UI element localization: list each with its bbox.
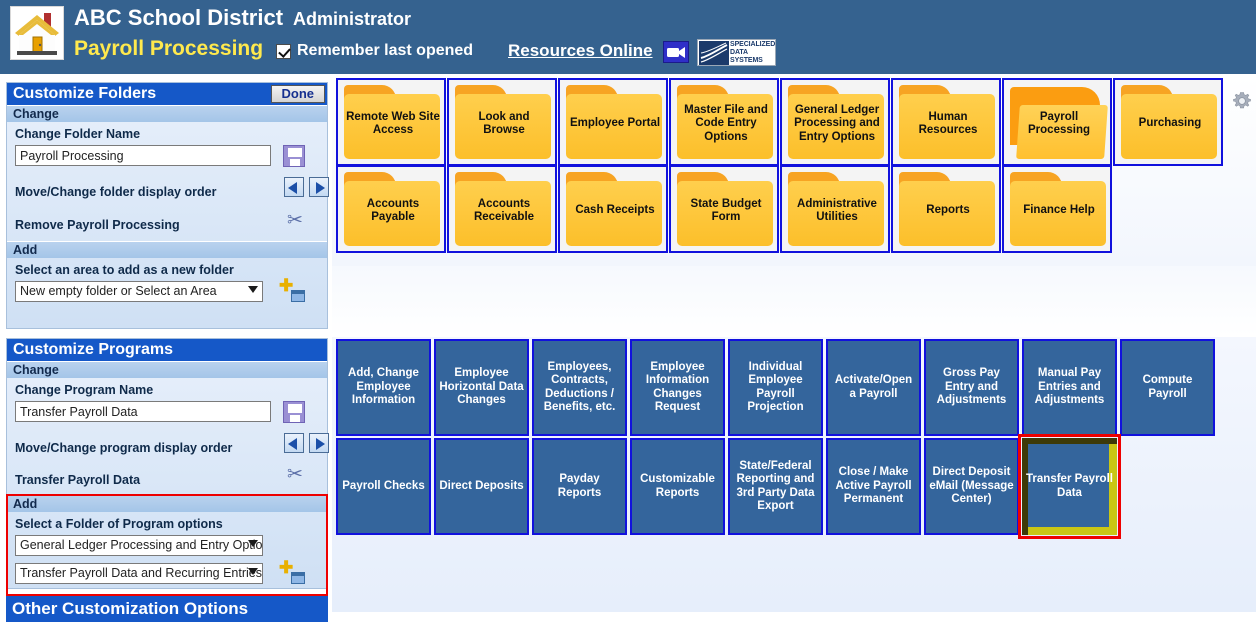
arrow-right-icon[interactable]	[309, 177, 329, 197]
program-tile-label: Employee Information Changes Request	[632, 361, 723, 415]
program-tile-label: Payday Reports	[534, 473, 625, 500]
program-tiles-area: Add, Change Employee InformationEmployee…	[332, 336, 1256, 612]
folder-tile[interactable]: Purchasing	[1113, 78, 1223, 166]
program-tile-label: Compute Payroll	[1122, 374, 1213, 401]
add-new-icon[interactable]: ✚	[279, 280, 305, 302]
sds-line-1: SPECIALIZED	[730, 41, 775, 49]
program-tile[interactable]: Employee Information Changes Request	[630, 339, 725, 436]
customize-folders-title-text: Customize Folders	[13, 85, 156, 102]
folder-tile[interactable]: Human Resources	[891, 78, 1001, 166]
program-tile[interactable]: Direct Deposit eMail (Message Center)	[924, 438, 1019, 535]
folder-tile-label: Cash Receipts	[564, 167, 666, 253]
folder-tile[interactable]: Payroll Processing	[1002, 78, 1112, 166]
program-tile-label: Close / Make Active Payroll Permanent	[828, 466, 919, 507]
remove-folder-label: Remove Payroll Processing	[7, 213, 186, 234]
folder-tile[interactable]: Finance Help	[1002, 165, 1112, 253]
sds-logo: SPECIALIZED DATA SYSTEMS	[697, 39, 776, 66]
folder-tile[interactable]: Accounts Receivable	[447, 165, 557, 253]
program-tile-label: Transfer Payroll Data	[1022, 473, 1117, 500]
programs-change-section-header: Change	[7, 361, 327, 378]
folder-tile-label: Accounts Receivable	[453, 167, 555, 253]
program-tile-label: Direct Deposit eMail (Message Center)	[926, 466, 1017, 507]
main-content: Remote Web Site AccessLook and BrowseEmp…	[332, 76, 1256, 612]
program-tile[interactable]: Close / Make Active Payroll Permanent	[826, 438, 921, 535]
program-tile-label: Individual Employee Payroll Projection	[730, 361, 821, 415]
program-tile[interactable]: Payday Reports	[532, 438, 627, 535]
chevron-down-icon	[248, 568, 258, 575]
program-tile[interactable]: Add, Change Employee Information	[336, 339, 431, 436]
page-title: ABC School DistrictAdministrator	[74, 5, 411, 31]
customize-programs-title-text: Customize Programs	[13, 341, 173, 358]
sds-line-3: SYSTEMS	[730, 57, 775, 65]
arrow-left-icon[interactable]	[284, 177, 304, 197]
program-tile-label: Payroll Checks	[339, 480, 427, 494]
customize-folders-title: Customize Folders Done	[7, 83, 327, 105]
floppy-save-icon[interactable]	[283, 401, 305, 423]
folder-tile[interactable]: Administrative Utilities	[780, 165, 890, 253]
folder-tile[interactable]: Master File and Code Entry Options	[669, 78, 779, 166]
folder-tiles-area: Remote Web Site AccessLook and BrowseEmp…	[332, 76, 1256, 266]
program-tile[interactable]: Payroll Checks	[336, 438, 431, 535]
folders-done-button[interactable]: Done	[271, 85, 326, 103]
video-camera-icon[interactable]	[663, 41, 689, 63]
remember-label: Remember last opened	[297, 42, 473, 60]
arrow-right-icon[interactable]	[309, 433, 329, 453]
program-name-input[interactable]	[15, 401, 271, 422]
program-tile-label: Employee Horizontal Data Changes	[436, 367, 527, 408]
remove-program-label: Transfer Payroll Data	[7, 468, 146, 489]
change-folder-name-label: Change Folder Name	[7, 122, 327, 143]
program-tile-label: Gross Pay Entry and Adjustments	[926, 367, 1017, 408]
program-tile-label: Customizable Reports	[632, 473, 723, 500]
program-tile-label: Activate/Open a Payroll	[828, 374, 919, 401]
customize-folders-panel: Customize Folders Done Change Change Fol…	[6, 82, 328, 329]
add-program-label: Select a Folder of Program options	[7, 512, 327, 533]
resources-online-link[interactable]: Resources Online	[508, 41, 653, 61]
program-tile[interactable]: Employee Horizontal Data Changes	[434, 339, 529, 436]
home-icon[interactable]	[10, 6, 64, 60]
program-tile[interactable]: Transfer Payroll Data	[1022, 438, 1117, 535]
content-gap	[332, 266, 1256, 336]
gear-icon[interactable]	[1232, 91, 1252, 111]
program-tile[interactable]: State/Federal Reporting and 3rd Party Da…	[728, 438, 823, 535]
folder-tile-label: Administrative Utilities	[786, 167, 888, 253]
folder-tile-label: Purchasing	[1119, 80, 1221, 166]
arrow-left-icon[interactable]	[284, 433, 304, 453]
add-program-select-value: Transfer Payroll Data and Recurring Entr…	[20, 566, 262, 580]
add-area-select[interactable]: New empty folder or Select an Area	[15, 281, 263, 302]
scissors-icon[interactable]: ✂	[287, 211, 303, 231]
sds-line-2: DATA	[730, 49, 775, 57]
folder-tile-label: Look and Browse	[453, 80, 555, 166]
move-folder-order-label: Move/Change folder display order	[7, 180, 222, 201]
district-name: ABC School District	[74, 5, 283, 30]
folders-change-section-header: Change	[7, 105, 327, 122]
other-customization-title: Other Customization Options	[6, 596, 328, 622]
sds-logo-text: SPECIALIZED DATA SYSTEMS	[730, 41, 775, 66]
module-title: Payroll Processing	[74, 37, 263, 61]
folder-tile-label: Accounts Payable	[342, 167, 444, 253]
add-new-icon[interactable]: ✚	[279, 562, 305, 584]
scissors-icon[interactable]: ✂	[287, 465, 303, 485]
folder-tile-label: Employee Portal	[564, 80, 666, 166]
program-tile-label: Add, Change Employee Information	[338, 367, 429, 408]
folder-tile[interactable]: State Budget Form	[669, 165, 779, 253]
folder-name-input[interactable]	[15, 145, 271, 166]
move-program-order-label: Move/Change program display order	[7, 436, 238, 457]
program-tile-label: Employees, Contracts, Deductions / Benef…	[534, 361, 625, 415]
program-tile[interactable]: Direct Deposits	[434, 438, 529, 535]
role-label: Administrator	[293, 9, 411, 29]
add-program-folder-select[interactable]: General Ledger Processing and Entry Opti…	[15, 535, 263, 556]
program-tile[interactable]: Manual Pay Entries and Adjustments	[1022, 339, 1117, 436]
folder-tile-label: Human Resources	[897, 80, 999, 166]
folder-tile[interactable]: Look and Browse	[447, 78, 557, 166]
programs-add-section-header: Add	[7, 495, 327, 512]
add-program-select[interactable]: Transfer Payroll Data and Recurring Entr…	[15, 563, 263, 584]
folder-tile[interactable]: Cash Receipts	[558, 165, 668, 253]
other-customization-panel: Other Customization Options	[6, 596, 328, 626]
customize-programs-title: Customize Programs	[7, 339, 327, 361]
folder-tile[interactable]: Employee Portal	[558, 78, 668, 166]
program-tile[interactable]: Individual Employee Payroll Projection	[728, 339, 823, 436]
folder-tile[interactable]: Accounts Payable	[336, 165, 446, 253]
program-tile[interactable]: Customizable Reports	[630, 438, 725, 535]
program-tile[interactable]: Compute Payroll	[1120, 339, 1215, 436]
window-glyph	[291, 572, 305, 584]
folder-tile-label: Reports	[897, 167, 999, 253]
window-glyph	[291, 290, 305, 302]
folder-tile[interactable]: Remote Web Site Access	[336, 78, 446, 166]
chevron-down-icon	[248, 540, 258, 547]
folders-add-section-header: Add	[7, 241, 327, 258]
change-program-name-label: Change Program Name	[7, 378, 327, 399]
program-tile-label: Manual Pay Entries and Adjustments	[1024, 367, 1115, 408]
folder-tile[interactable]: General Ledger Processing and Entry Opti…	[780, 78, 890, 166]
program-tile[interactable]: Gross Pay Entry and Adjustments	[924, 339, 1019, 436]
chevron-down-icon	[248, 286, 258, 293]
floppy-save-icon[interactable]	[283, 145, 305, 167]
folder-tile-label: Master File and Code Entry Options	[675, 80, 777, 166]
add-program-folder-select-value: General Ledger Processing and Entry Opti…	[20, 538, 263, 552]
app-header: ABC School DistrictAdministrator Payroll…	[0, 0, 1256, 76]
folder-tile-label: Finance Help	[1008, 167, 1110, 253]
program-tile[interactable]: Employees, Contracts, Deductions / Benef…	[532, 339, 627, 436]
folder-tile-label: Remote Web Site Access	[342, 80, 444, 166]
folder-tile-label: Payroll Processing	[1008, 80, 1110, 166]
remember-checkbox[interactable]	[276, 44, 291, 59]
program-tile-label: Direct Deposits	[436, 480, 526, 494]
folder-tile[interactable]: Reports	[891, 165, 1001, 253]
folder-tile-label: General Ledger Processing and Entry Opti…	[786, 80, 888, 166]
remember-last-opened-toggle[interactable]: Remember last opened	[276, 42, 473, 60]
folder-tile-label: State Budget Form	[675, 167, 777, 253]
program-tile-label: State/Federal Reporting and 3rd Party Da…	[730, 460, 821, 514]
customize-sidebar: Customize Folders Done Change Change Fol…	[0, 76, 332, 612]
customize-programs-panel: Customize Programs Change Change Program…	[6, 338, 328, 589]
add-area-select-value: New empty folder or Select an Area	[20, 284, 217, 298]
program-tile[interactable]: Activate/Open a Payroll	[826, 339, 921, 436]
